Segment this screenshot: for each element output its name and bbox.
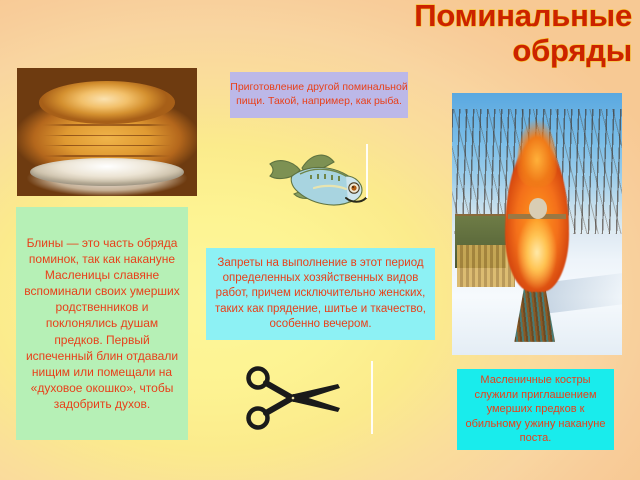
slide-canvas: Поминальные обряды xyxy=(0,0,640,480)
callout-fish-food-text: Приготовление другой поминальной пищи. Т… xyxy=(230,81,408,109)
scissors-icon xyxy=(240,362,350,434)
pancake-top xyxy=(39,81,176,125)
bonfire-photo xyxy=(452,93,622,355)
callout-prohibitions-text: Запреты на выполнение в этот период опре… xyxy=(212,256,429,332)
vertical-rule xyxy=(366,144,368,198)
effigy-head xyxy=(529,198,548,219)
callout-fish-food: Приготовление другой поминальной пищи. Т… xyxy=(230,72,408,118)
pancake-edge xyxy=(42,145,172,147)
callout-bonfires-text: Масленичные костры служили приглашением … xyxy=(462,373,609,446)
fish-icon xyxy=(262,146,374,220)
plate xyxy=(30,158,185,186)
pancakes-photo xyxy=(17,68,197,196)
pancake-edge xyxy=(42,124,172,126)
callout-bonfires: Масленичные костры служили приглашением … xyxy=(457,369,614,450)
pancake-edge xyxy=(42,135,172,137)
page-title: Поминальные обряды xyxy=(292,0,632,68)
callout-pancakes-text: Блины — это часть обряда поминок, так ка… xyxy=(23,235,181,412)
callout-pancakes: Блины — это часть обряда поминок, так ка… xyxy=(16,207,188,440)
vertical-rule xyxy=(371,361,373,434)
callout-prohibitions: Запреты на выполнение в этот период опре… xyxy=(206,248,435,340)
pancake-edge xyxy=(42,155,172,157)
